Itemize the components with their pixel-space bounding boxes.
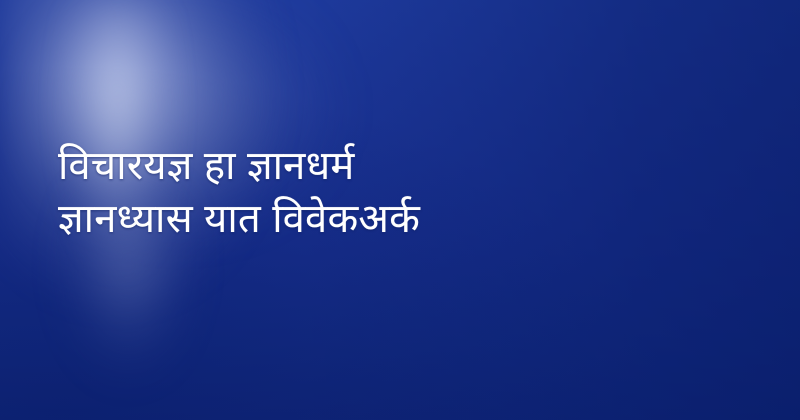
- headline-line-2: ज्ञानध्यास यात विवेकअर्क: [58, 193, 758, 246]
- poster-canvas: विचारयज्ञ हा ज्ञानधर्म ज्ञानध्यास यात वि…: [0, 0, 800, 420]
- headline-line-1: विचारयज्ञ हा ज्ञानधर्म: [58, 140, 758, 193]
- headline-block: विचारयज्ञ हा ज्ञानधर्म ज्ञानध्यास यात वि…: [58, 140, 758, 246]
